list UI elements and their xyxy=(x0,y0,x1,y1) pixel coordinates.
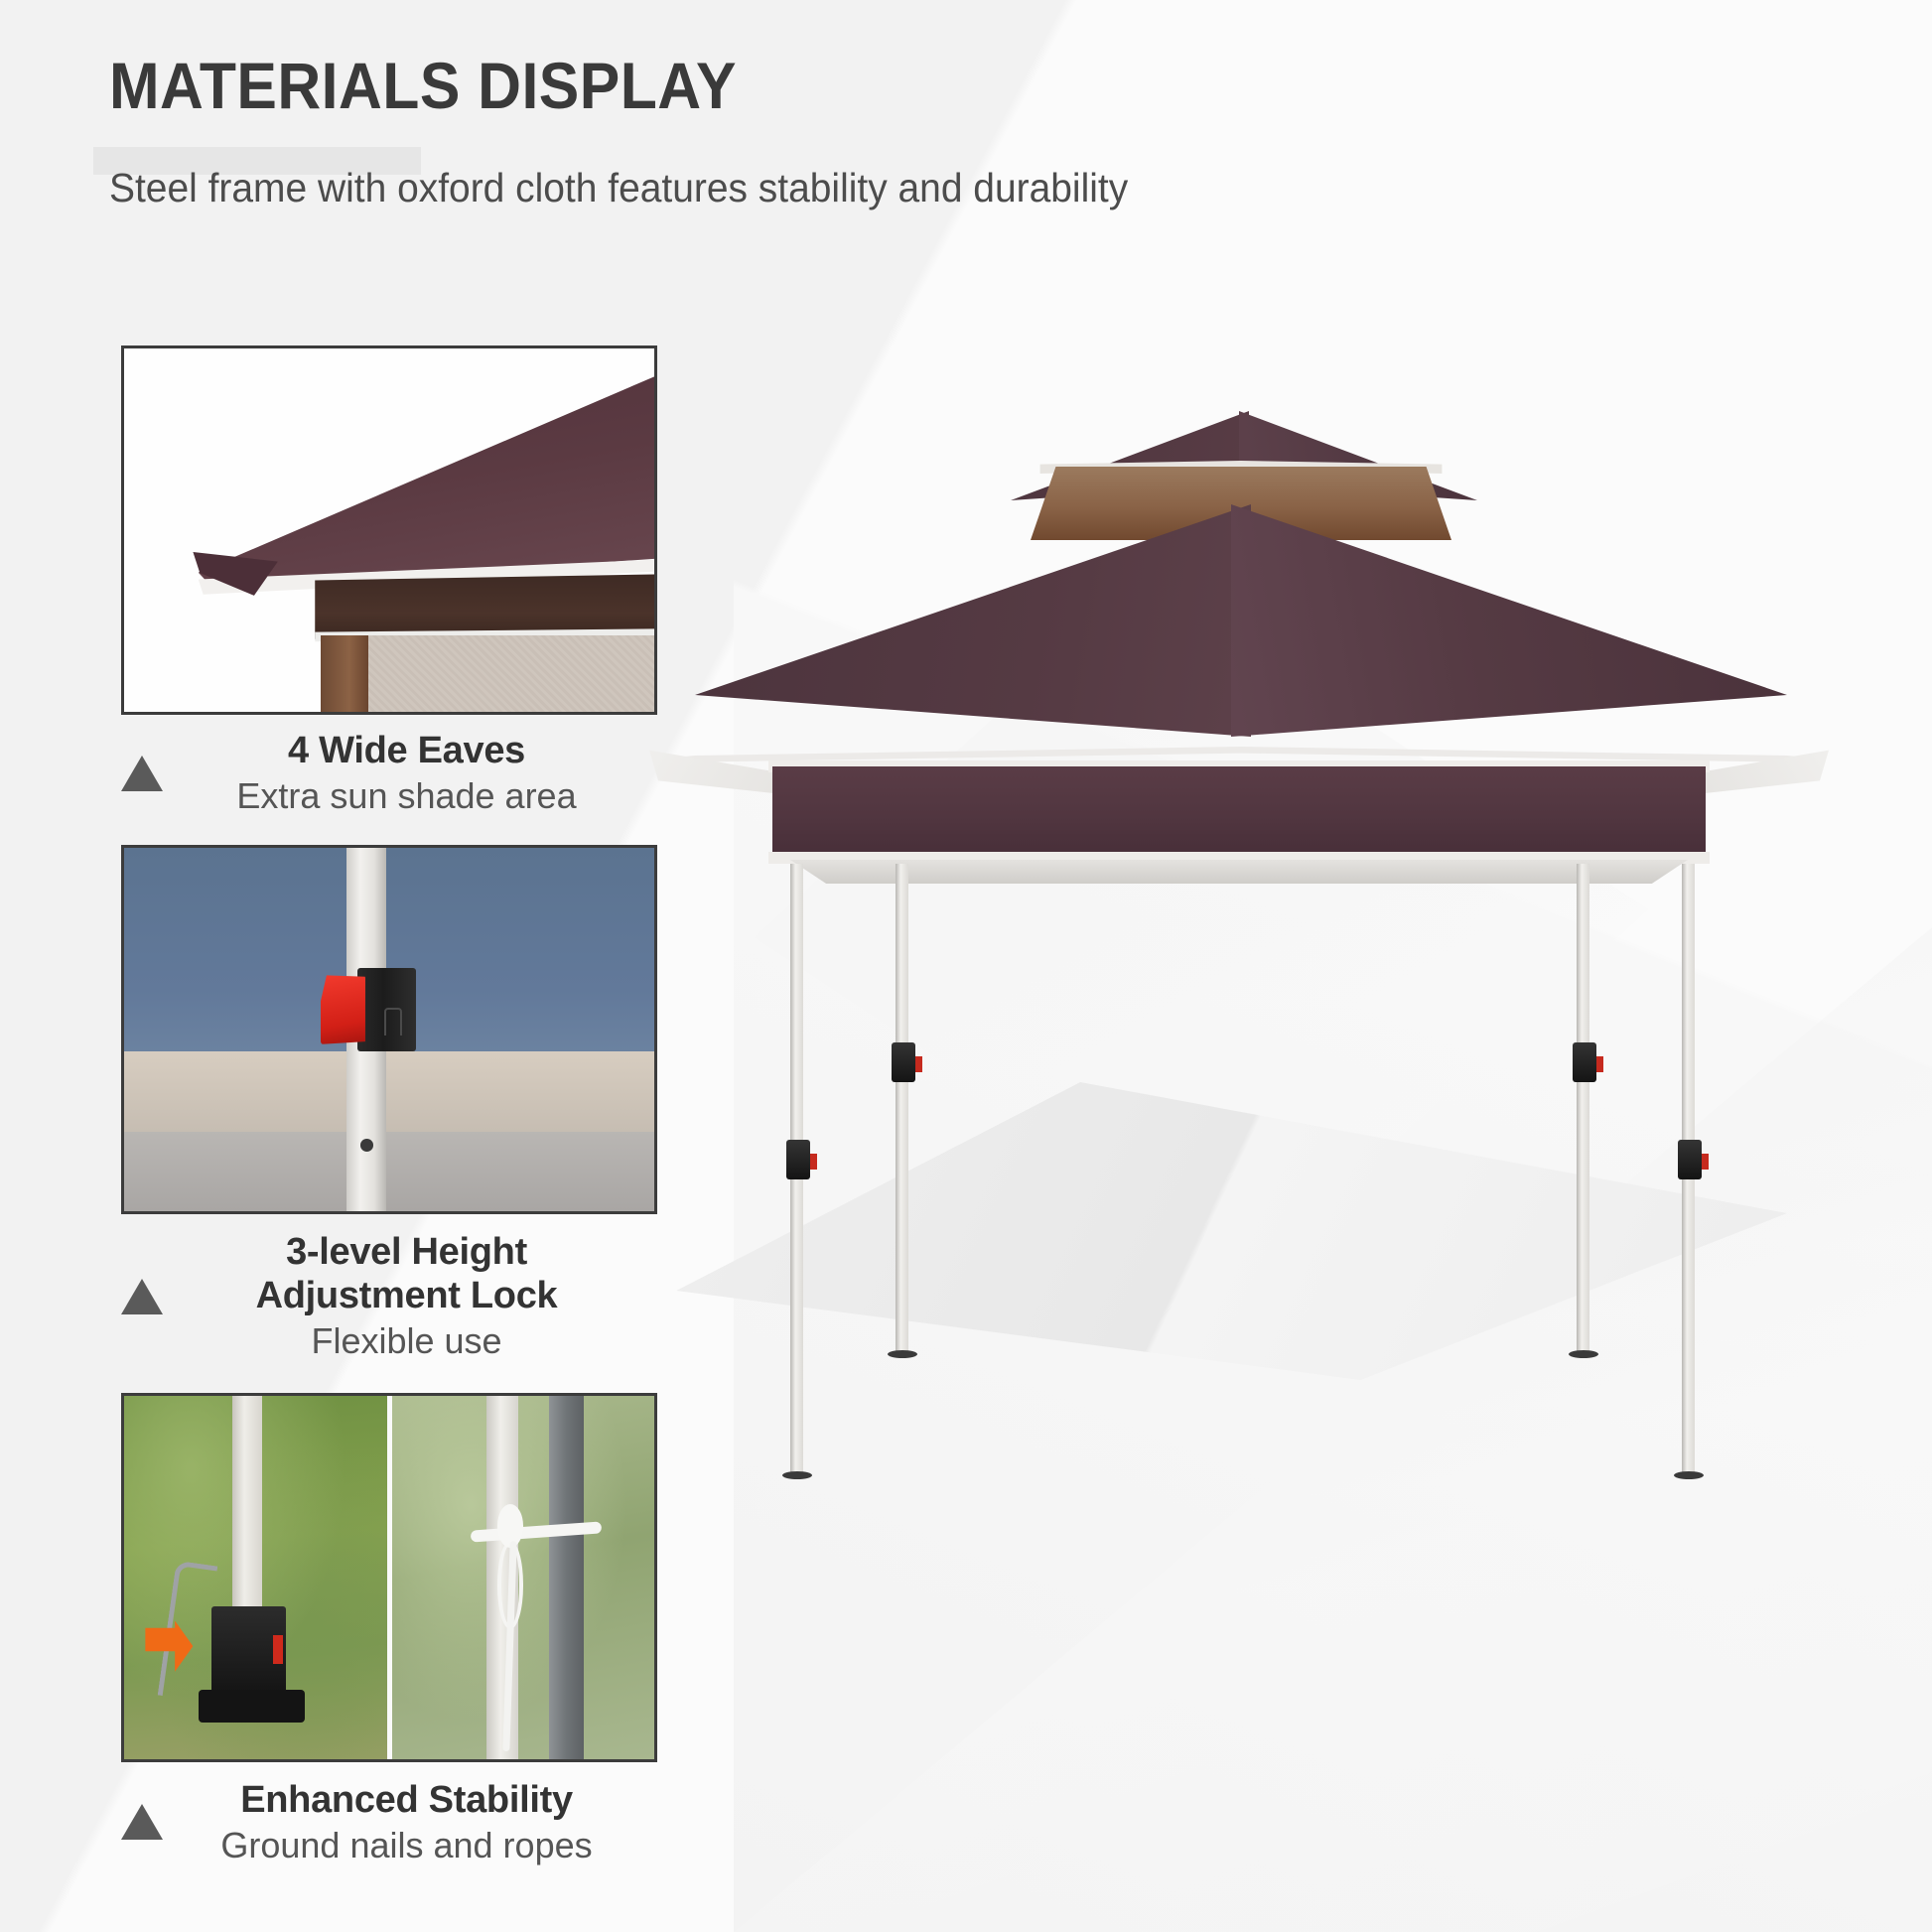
leg-back-right xyxy=(1577,864,1589,1354)
leg-back-left xyxy=(896,864,908,1354)
feature-caption: 3-level Height Adjustment Lock Flexible … xyxy=(121,1214,662,1362)
photo-grass-right xyxy=(392,1396,654,1759)
photo-ground-band xyxy=(124,1132,654,1212)
feature-subtitle: Flexible use xyxy=(185,1319,628,1362)
feature-height-adjustment-lock: 3-level Height Adjustment Lock Flexible … xyxy=(121,845,662,1362)
triangle-bullet-icon xyxy=(121,1279,163,1314)
caption-text: Enhanced Stability Ground nails and rope… xyxy=(185,1778,662,1866)
feature-subtitle: Extra sun shade area xyxy=(185,774,628,817)
height-lock-lever-back-right xyxy=(1596,1056,1603,1072)
photo-grass-left xyxy=(124,1396,389,1759)
triangle-bullet-icon xyxy=(121,756,163,791)
feature-wide-eaves: 4 Wide Eaves Extra sun shade area xyxy=(121,345,662,817)
feature-list: 4 Wide Eaves Extra sun shade area 3-leve… xyxy=(121,345,662,1866)
header: MATERIALS DISPLAY Steel frame with oxfor… xyxy=(109,52,1598,212)
height-lock-clip-front-left xyxy=(786,1140,810,1179)
height-lock-lever-back-left xyxy=(915,1056,922,1072)
feature-photo-stability xyxy=(121,1393,657,1762)
feature-subtitle: Ground nails and ropes xyxy=(185,1824,628,1866)
feature-title: 4 Wide Eaves xyxy=(185,729,628,772)
height-lock-clip-back-left xyxy=(892,1042,915,1082)
feature-title: Enhanced Stability xyxy=(185,1778,628,1822)
under-frame-rail xyxy=(790,860,1688,884)
leg-foot-back-left xyxy=(888,1350,917,1358)
foot-base-plate xyxy=(199,1690,305,1723)
leg-foot-front-left xyxy=(782,1471,812,1479)
ground-plane xyxy=(665,1082,1787,1380)
leg-foot-back-right xyxy=(1569,1350,1598,1358)
feature-title-line-1: 3-level Height xyxy=(185,1230,628,1274)
title-wrap: MATERIALS DISPLAY xyxy=(109,52,791,120)
caption-text: 4 Wide Eaves Extra sun shade area xyxy=(185,729,662,817)
feature-title-line-2: Adjustment Lock xyxy=(185,1274,628,1317)
valance-band xyxy=(772,766,1706,858)
foot-red-tab xyxy=(273,1635,284,1664)
height-lock-clip-front-right xyxy=(1678,1140,1702,1179)
leg-foot-front-right xyxy=(1674,1471,1704,1479)
height-lock-lever-front-right xyxy=(1702,1154,1709,1170)
canopy-side-panel xyxy=(368,635,657,712)
height-lock-lever-front-left xyxy=(810,1154,817,1170)
height-lock-clip-back-right xyxy=(1573,1042,1596,1082)
feature-enhanced-stability: Enhanced Stability Ground nails and rope… xyxy=(121,1393,662,1866)
feature-photo-wide-eaves xyxy=(121,345,657,715)
triangle-bullet-icon xyxy=(121,1804,163,1840)
feature-caption: 4 Wide Eaves Extra sun shade area xyxy=(121,715,662,817)
page-subtitle: Steel frame with oxford cloth features s… xyxy=(109,164,1524,212)
caption-text: 3-level Height Adjustment Lock Flexible … xyxy=(185,1230,662,1362)
page-title: MATERIALS DISPLAY xyxy=(109,52,737,120)
steel-leg-pole-dark xyxy=(549,1396,583,1759)
leg-adjustment-hole xyxy=(360,1139,373,1151)
product-illustration-gazebo xyxy=(695,427,1866,1449)
photo-sand-band xyxy=(124,1051,654,1132)
feature-photo-height-lock xyxy=(121,845,657,1214)
canopy-corner-post xyxy=(321,635,368,712)
feature-caption: Enhanced Stability Ground nails and rope… xyxy=(121,1762,662,1866)
lock-lever-red xyxy=(321,975,365,1044)
lock-slot-icon xyxy=(384,1008,402,1035)
